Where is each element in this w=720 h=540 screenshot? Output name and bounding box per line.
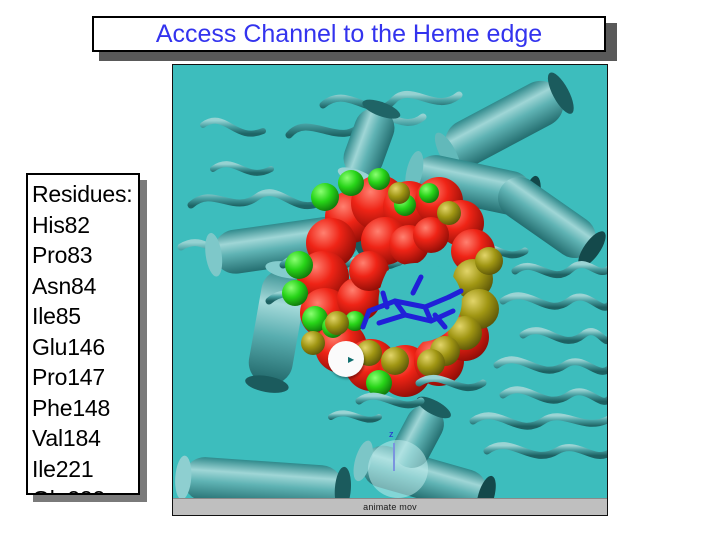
- residue-item: Ile85: [32, 301, 138, 332]
- molecular-surface: [282, 168, 503, 397]
- axis-z-label: z: [389, 429, 394, 439]
- residue-item: Val184: [32, 423, 138, 454]
- residue-item: His82: [32, 210, 138, 241]
- translucent-disc: [368, 440, 428, 498]
- residue-item: Pro147: [32, 362, 138, 393]
- residue-item: Gln222: [32, 484, 138, 495]
- viewer-marker-disc[interactable]: [328, 341, 364, 377]
- residue-item: Pro83: [32, 240, 138, 271]
- residue-item: Ile221: [32, 454, 138, 485]
- title-box: Access Channel to the Heme edge: [92, 16, 606, 52]
- residue-item: Glu146: [32, 332, 138, 363]
- residue-item: Asn84: [32, 271, 138, 302]
- viewer-status-bar: animate mov: [173, 498, 607, 515]
- molecule-canvas[interactable]: z x ▶: [173, 65, 607, 500]
- molecular-viewer[interactable]: z x ▶ animate mov: [172, 64, 608, 516]
- residues-panel: Residues: His82 Pro83 Asn84 Ile85 Glu146…: [26, 173, 140, 495]
- residues-heading: Residues:: [32, 179, 138, 210]
- page-title: Access Channel to the Heme edge: [156, 22, 542, 47]
- residue-item: Phe148: [32, 393, 138, 424]
- viewer-marker-glyph: ▶: [348, 355, 354, 364]
- status-text: animate mov: [363, 502, 417, 512]
